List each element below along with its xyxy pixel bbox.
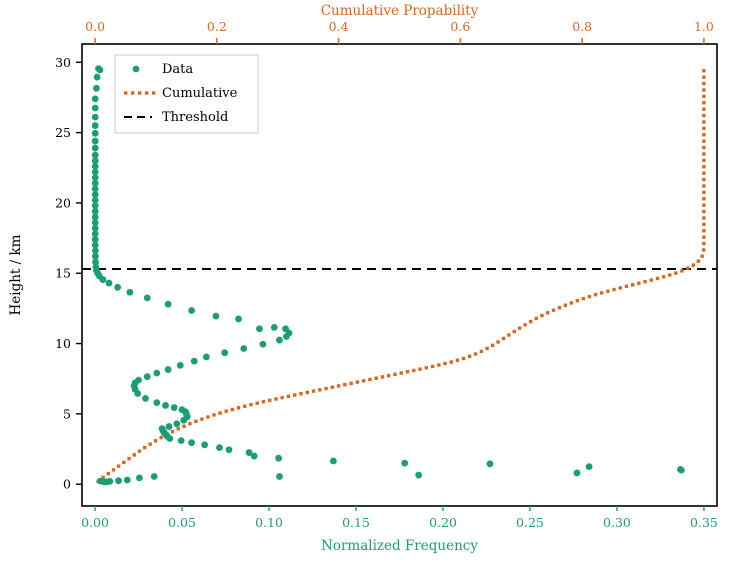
cumulative-dot xyxy=(456,359,459,362)
cumulative-dot xyxy=(518,326,521,329)
cumulative-dot xyxy=(702,114,705,117)
data-point xyxy=(166,423,173,430)
cumulative-dot xyxy=(702,120,705,123)
svg-text:0: 0 xyxy=(63,477,71,492)
cumulative-dot xyxy=(381,375,384,378)
cumulative-dot xyxy=(312,389,315,392)
cumulative-dot xyxy=(148,442,151,445)
data-point xyxy=(92,95,99,102)
svg-text:0.0: 0.0 xyxy=(85,19,105,34)
cumulative-dot xyxy=(702,95,705,98)
cumulative-dot xyxy=(237,406,240,409)
cumulative-dot xyxy=(450,360,453,363)
data-point xyxy=(221,349,228,356)
data-point xyxy=(106,478,113,485)
cumulative-dot xyxy=(692,263,695,266)
data-point xyxy=(226,446,233,453)
cumulative-dot xyxy=(188,422,191,425)
svg-text:0.00: 0.00 xyxy=(81,515,109,530)
cumulative-dot xyxy=(513,330,516,333)
data-point xyxy=(159,425,166,432)
data-point xyxy=(92,152,99,159)
data-point xyxy=(144,373,151,380)
chart-canvas: 0.000.050.100.150.200.250.300.35Normaliz… xyxy=(0,0,747,561)
data-point xyxy=(124,477,131,484)
cumulative-dot xyxy=(400,371,403,374)
cumulative-dot xyxy=(680,269,683,272)
cumulative-dot xyxy=(570,301,573,304)
cumulative-dot xyxy=(619,286,622,289)
x-axis-label-top: Cumulative Propability xyxy=(321,3,479,19)
cumulative-dot xyxy=(702,171,705,174)
data-point xyxy=(678,467,685,474)
data-point xyxy=(235,316,242,323)
cumulative-dot xyxy=(231,408,234,411)
cumulative-dot xyxy=(702,197,705,200)
cumulative-dot xyxy=(576,299,579,302)
data-point xyxy=(165,301,172,308)
svg-text:30: 30 xyxy=(55,55,71,70)
cumulative-dot xyxy=(702,242,705,245)
cumulative-dot xyxy=(702,146,705,149)
data-point xyxy=(586,463,593,470)
cumulative-dot xyxy=(218,411,221,414)
svg-text:0.30: 0.30 xyxy=(603,515,631,530)
legend-marker-cumulative xyxy=(131,91,134,94)
data-point xyxy=(142,395,149,402)
cumulative-dot xyxy=(594,293,597,296)
svg-text:20: 20 xyxy=(55,195,71,210)
data-point xyxy=(92,130,99,137)
data-point xyxy=(487,460,494,467)
data-point xyxy=(135,377,142,384)
data-point xyxy=(276,473,283,480)
cumulative-dot xyxy=(650,278,653,281)
cumulative-dot xyxy=(262,400,265,403)
cumulative-dot xyxy=(306,391,309,394)
cumulative-dot xyxy=(702,133,705,136)
cumulative-dot xyxy=(702,88,705,91)
cumulative-dot xyxy=(255,401,258,404)
cumulative-dot xyxy=(194,420,197,423)
cumulative-dot xyxy=(702,159,705,162)
cumulative-dot xyxy=(600,291,603,294)
cumulative-dot xyxy=(702,82,705,85)
data-point xyxy=(92,114,99,121)
data-point xyxy=(162,402,169,409)
data-point xyxy=(574,470,581,477)
data-point xyxy=(171,404,178,411)
x-axis-top: 0.00.20.40.60.81.0 xyxy=(85,19,714,44)
data-point xyxy=(144,294,151,301)
cumulative-dot xyxy=(535,317,538,320)
cumulative-dot xyxy=(362,379,365,382)
data-point xyxy=(276,337,283,344)
data-point xyxy=(92,145,99,152)
cumulative-dot xyxy=(702,139,705,142)
cumulative-dot xyxy=(331,386,334,389)
data-point xyxy=(203,354,210,361)
cumulative-dot xyxy=(662,275,665,278)
svg-text:0.6: 0.6 xyxy=(450,19,470,34)
data-point xyxy=(188,307,195,314)
data-point xyxy=(282,325,289,332)
svg-text:10: 10 xyxy=(55,336,71,351)
cumulative-dot xyxy=(700,254,703,257)
svg-text:1.0: 1.0 xyxy=(694,19,714,34)
cumulative-dot xyxy=(154,439,157,442)
cumulative-dot xyxy=(702,152,705,155)
svg-text:15: 15 xyxy=(55,266,71,281)
legend-marker-cumulative xyxy=(145,91,148,94)
cumulative-dot xyxy=(702,101,705,104)
data-point xyxy=(271,324,278,331)
cumulative-dot xyxy=(225,409,228,412)
cumulative-dot xyxy=(171,430,174,433)
cumulative-dot xyxy=(702,235,705,238)
cumulative-dot xyxy=(274,397,277,400)
cumulative-dot xyxy=(496,340,499,343)
cumulative-dot xyxy=(474,352,477,355)
y-axis-label: Height / km xyxy=(8,234,24,315)
svg-text:0.2: 0.2 xyxy=(207,19,227,34)
data-point xyxy=(173,420,180,427)
cumulative-dot xyxy=(606,289,609,292)
cumulative-dot xyxy=(127,457,130,460)
x-axis-bottom: 0.000.050.100.150.200.250.300.35 xyxy=(81,506,718,530)
data-point xyxy=(191,358,198,365)
data-point xyxy=(177,362,184,369)
cumulative-dot xyxy=(702,216,705,219)
data-point xyxy=(97,67,104,74)
legend-label-data: Data xyxy=(162,62,193,77)
cumulative-dot xyxy=(143,446,146,449)
data-point xyxy=(240,345,247,352)
cumulative-dot xyxy=(686,267,689,270)
cumulative-dot xyxy=(412,369,415,372)
svg-text:0.8: 0.8 xyxy=(572,19,592,34)
cumulative-dot xyxy=(491,344,494,347)
cumulative-dot xyxy=(280,396,283,399)
cumulative-dot xyxy=(702,178,705,181)
svg-text:0.35: 0.35 xyxy=(690,515,718,530)
data-point xyxy=(330,458,337,465)
cumulative-dot xyxy=(138,449,141,452)
cumulative-dot xyxy=(552,308,555,311)
cumulative-dot xyxy=(249,403,252,406)
legend: DataCumulativeThreshold xyxy=(115,55,258,133)
data-point xyxy=(94,74,101,81)
cumulative-dot xyxy=(702,75,705,78)
data-point xyxy=(415,472,422,479)
cumulative-dot xyxy=(206,415,209,418)
cumulative-dot xyxy=(702,69,705,72)
legend-marker-data xyxy=(133,66,140,73)
cumulative-dot xyxy=(349,382,352,385)
figure-container: 0.000.050.100.150.200.250.300.35Normaliz… xyxy=(0,0,747,561)
data-point xyxy=(256,325,263,332)
data-point xyxy=(213,313,220,320)
data-point xyxy=(260,341,267,348)
data-point xyxy=(93,85,100,92)
svg-text:5: 5 xyxy=(63,406,71,421)
cumulative-dot xyxy=(375,377,378,380)
cumulative-dot xyxy=(368,378,371,381)
cumulative-dot xyxy=(588,295,591,298)
cumulative-dot xyxy=(582,297,585,300)
cumulative-dot xyxy=(268,399,271,402)
cumulative-dot xyxy=(523,323,526,326)
cumulative-dot xyxy=(625,285,628,288)
data-point xyxy=(401,460,408,467)
cumulative-dot xyxy=(212,413,215,416)
data-point xyxy=(115,477,122,484)
data-point xyxy=(92,138,99,145)
y-axis: 051015202530 xyxy=(55,55,82,492)
cumulative-dot xyxy=(337,384,340,387)
cumulative-dot xyxy=(668,273,671,276)
data-point xyxy=(151,473,158,480)
cumulative-dot xyxy=(243,405,246,408)
data-point xyxy=(179,406,186,413)
cumulative-dot xyxy=(702,248,705,251)
cumulative-dot xyxy=(643,280,646,283)
cumulative-dot xyxy=(176,427,179,430)
cumulative-dot xyxy=(612,288,615,291)
svg-text:0.10: 0.10 xyxy=(255,515,283,530)
cumulative-dot xyxy=(418,367,421,370)
data-point xyxy=(92,105,99,112)
cumulative-dot xyxy=(564,304,567,307)
cumulative-dot xyxy=(529,320,532,323)
legend-marker-cumulative xyxy=(138,91,141,94)
cumulative-dot xyxy=(540,314,543,317)
data-point xyxy=(178,437,185,444)
cumulative-dot xyxy=(343,383,346,386)
data-point xyxy=(92,122,99,129)
cumulative-dot xyxy=(437,363,440,366)
cumulative-dot xyxy=(674,271,677,274)
data-point xyxy=(188,439,195,446)
cumulative-dot xyxy=(468,355,471,358)
legend-label-cumulative: Cumulative xyxy=(162,86,238,101)
cumulative-dot xyxy=(702,229,705,232)
data-point xyxy=(153,399,160,406)
cumulative-dot xyxy=(443,362,446,365)
svg-text:0.15: 0.15 xyxy=(342,515,370,530)
cumulative-dot xyxy=(159,436,162,439)
cumulative-dot xyxy=(324,387,327,390)
cumulative-dot xyxy=(299,392,302,395)
cumulative-dot xyxy=(431,365,434,368)
cumulative-dot xyxy=(107,472,110,475)
cumulative-dot xyxy=(702,184,705,187)
cumulative-dot xyxy=(702,127,705,130)
svg-text:25: 25 xyxy=(55,125,71,140)
cumulative-dot xyxy=(702,107,705,110)
data-point xyxy=(275,455,282,462)
legend-marker-cumulative xyxy=(152,91,155,94)
data-point xyxy=(216,444,223,451)
cumulative-dot xyxy=(356,380,359,383)
cumulative-dot xyxy=(393,373,396,376)
data-point xyxy=(153,370,160,377)
data-point xyxy=(246,449,253,456)
legend-label-threshold: Threshold xyxy=(162,110,228,125)
svg-text:0.20: 0.20 xyxy=(429,515,457,530)
cumulative-dot xyxy=(558,306,561,309)
cumulative-dot xyxy=(656,277,659,280)
cumulative-dot xyxy=(702,223,705,226)
cumulative-dot xyxy=(637,282,640,285)
cumulative-dot xyxy=(112,468,115,471)
cumulative-dot xyxy=(485,347,488,350)
data-point xyxy=(106,280,113,287)
cumulative-dot xyxy=(702,210,705,213)
cumulative-dot xyxy=(293,393,296,396)
cumulative-dot xyxy=(117,464,120,467)
cumulative-dot xyxy=(287,395,290,398)
cumulative-dot xyxy=(631,283,634,286)
cumulative-dot xyxy=(122,461,125,464)
x-axis-label-bottom: Normalized Frequency xyxy=(321,538,478,554)
data-point xyxy=(165,366,172,373)
data-point xyxy=(114,284,121,291)
cumulative-dot xyxy=(702,203,705,206)
cumulative-dot xyxy=(425,366,428,369)
data-point xyxy=(136,474,143,481)
cumulative-dot xyxy=(697,259,700,262)
cumulative-dot xyxy=(387,374,390,377)
cumulative-dot xyxy=(546,311,549,314)
cumulative-dot xyxy=(406,370,409,373)
cumulative-dot xyxy=(702,165,705,168)
svg-text:0.25: 0.25 xyxy=(516,515,544,530)
cumulative-dot xyxy=(702,191,705,194)
cumulative-dot xyxy=(133,453,136,456)
cumulative-dot xyxy=(200,417,203,420)
svg-text:0.05: 0.05 xyxy=(168,515,196,530)
data-point xyxy=(201,441,208,448)
cumulative-dot xyxy=(507,333,510,336)
cumulative-dot xyxy=(182,424,185,427)
cumulative-dot xyxy=(462,357,465,360)
data-point xyxy=(126,289,133,296)
legend-marker-cumulative xyxy=(124,91,127,94)
cumulative-dot xyxy=(318,388,321,391)
cumulative-dot xyxy=(502,337,505,340)
cumulative-dot xyxy=(480,350,483,353)
svg-text:0.4: 0.4 xyxy=(329,19,349,34)
